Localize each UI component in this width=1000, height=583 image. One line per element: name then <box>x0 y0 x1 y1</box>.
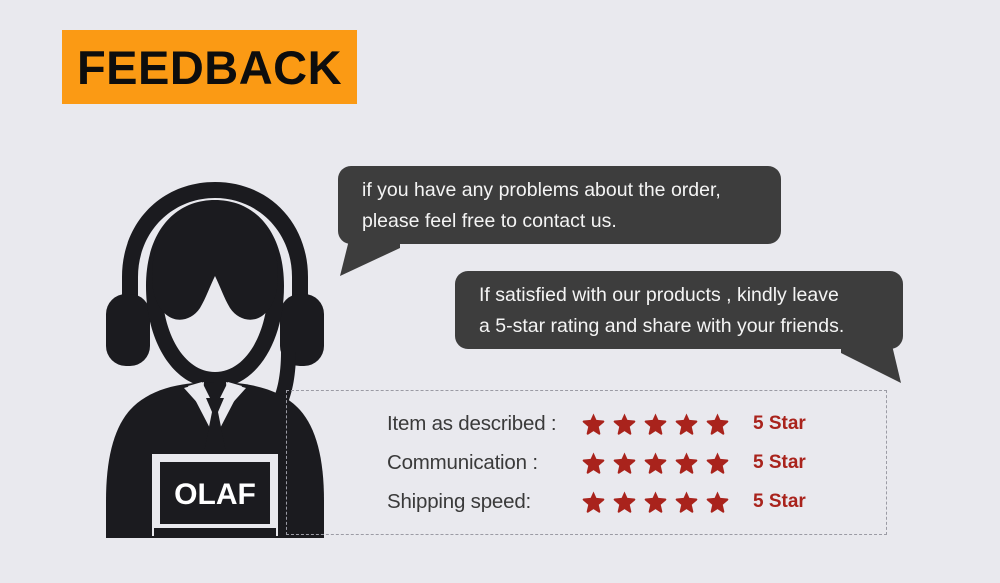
rating-value: 5 Star <box>747 413 806 435</box>
star-icon <box>644 490 667 513</box>
rating-stars-item-as-described <box>582 412 747 435</box>
rating-stars-communication <box>582 451 747 474</box>
star-icon <box>706 412 729 435</box>
star-icon <box>675 490 698 513</box>
rating-value: 5 Star <box>747 491 806 513</box>
star-icon <box>582 412 605 435</box>
ratings-list: Item as described : 5 Star Communication… <box>387 404 867 521</box>
feedback-banner: FEEDBACK <box>62 30 357 104</box>
speech-bubble-support: if you have any problems about the order… <box>338 166 781 244</box>
rating-row-shipping-speed: Shipping speed: 5 Star <box>387 482 867 521</box>
star-icon <box>613 490 636 513</box>
rating-value: 5 Star <box>747 452 806 474</box>
laptop-brand-label: OLAF <box>174 478 256 511</box>
rating-stars-shipping-speed <box>582 490 747 513</box>
speech-bubble-tail-left-icon <box>338 236 408 276</box>
star-icon <box>706 490 729 513</box>
ratings-panel: Item as described : 5 Star Communication… <box>286 390 887 535</box>
rating-label: Item as described : <box>387 412 582 436</box>
rating-label: Shipping speed: <box>387 490 582 514</box>
feedback-banner-image: FEEDBACK <box>0 0 1000 583</box>
speech-bubble-support-text: if you have any problems about the order… <box>362 175 781 237</box>
rating-row-item-as-described: Item as described : 5 Star <box>387 404 867 443</box>
star-icon <box>644 412 667 435</box>
star-icon <box>675 412 698 435</box>
speech-bubble-rating-text: If satisfied with our products , kindly … <box>479 280 903 342</box>
star-icon <box>582 490 605 513</box>
rating-label: Communication : <box>387 451 582 475</box>
page-title: FEEDBACK <box>77 44 342 91</box>
star-icon <box>613 451 636 474</box>
star-icon <box>613 412 636 435</box>
star-icon <box>582 451 605 474</box>
star-icon <box>675 451 698 474</box>
speech-bubble-tail-right-icon <box>833 341 905 383</box>
rating-row-communication: Communication : 5 Star <box>387 443 867 482</box>
star-icon <box>706 451 729 474</box>
speech-bubble-rating: If satisfied with our products , kindly … <box>455 271 903 349</box>
star-icon <box>644 451 667 474</box>
